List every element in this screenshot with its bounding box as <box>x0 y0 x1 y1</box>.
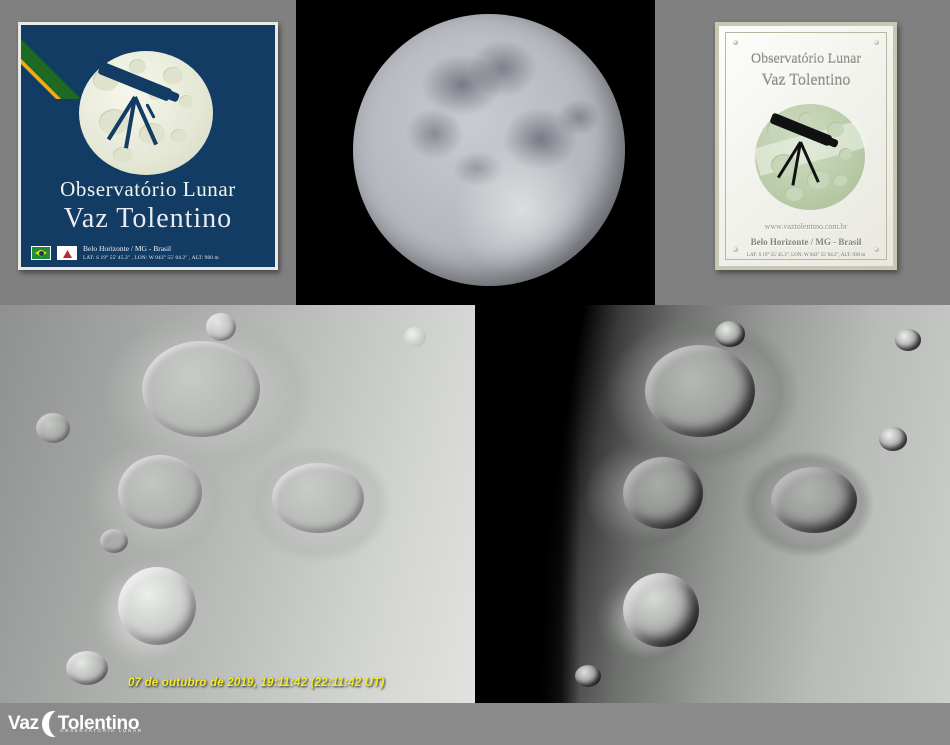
plaque-website: www.vaztolentino.com.br <box>719 222 893 231</box>
screw-icon <box>733 247 738 252</box>
plaque-title: Observatório Lunar <box>21 177 275 202</box>
watermark-first-word: Vaz <box>8 713 39 735</box>
watermark-second-word: Tolentino <box>58 713 139 735</box>
plaque-subtitle: Vaz Tolentino <box>21 203 275 235</box>
footer-bar: Vaz Tolentino OBSERVATÓRIO LUNAR <box>0 703 950 745</box>
top-row: Observatório Lunar Vaz Tolentino Belo Ho… <box>0 0 950 305</box>
screw-icon <box>874 40 879 45</box>
moon-with-telescope-icon <box>79 51 213 175</box>
composite-image: Observatório Lunar Vaz Tolentino Belo Ho… <box>0 0 950 745</box>
watermark-logo: Vaz Tolentino <box>8 709 139 739</box>
left-logo-panel: Observatório Lunar Vaz Tolentino Belo Ho… <box>0 0 296 305</box>
plaque-location-text: Belo Horizonte / MG - Brasil <box>719 237 893 247</box>
plaque-coordinates: LAT: S 19° 55' 45.3" , LON: W 043° 55' 0… <box>83 255 219 263</box>
full-moon-panel <box>296 0 655 305</box>
plaque-footer: Belo Horizonte / MG - Brasil LAT: S 19° … <box>31 239 271 267</box>
full-moon-photograph <box>353 14 625 286</box>
telescope-icon <box>79 51 213 175</box>
observatory-logo-plaque: Observatório Lunar Vaz Tolentino Belo Ho… <box>18 22 278 270</box>
lunar-detail-right: 06 de outubro de 2019, 19:51:36 (22:51:3… <box>475 305 950 703</box>
plaque-location-text: Belo Horizonte / MG - Brasil <box>83 244 219 255</box>
moon-with-telescope-icon <box>755 104 865 210</box>
right-logo-panel: Observatório Lunar Vaz Tolentino <box>655 0 950 305</box>
lunar-surface-image <box>0 305 475 703</box>
minas-gerais-flag-icon <box>57 246 77 260</box>
plaque-coordinates: LAT: S 19° 55' 45.3", LON: W 043° 55' 04… <box>719 253 893 258</box>
brazil-flag-icon <box>31 246 51 260</box>
lunar-detail-left: 07 de outubro de 2019, 19:11:42 (22:11:4… <box>0 305 475 703</box>
screw-icon <box>874 247 879 252</box>
detail-images-row: 07 de outubro de 2019, 19:11:42 (22:11:4… <box>0 305 950 703</box>
observatory-metal-plaque: Observatório Lunar Vaz Tolentino <box>715 22 897 270</box>
plaque-subtitle: Vaz Tolentino <box>719 72 893 90</box>
plaque-location-block: Belo Horizonte / MG - Brasil LAT: S 19° … <box>83 244 219 263</box>
lunar-surface-image <box>475 305 950 703</box>
telescope-icon <box>755 104 865 210</box>
screw-icon <box>733 40 738 45</box>
detail-caption: 07 de outubro de 2019, 19:11:42 (22:11:4… <box>128 677 385 689</box>
terminator-shadow <box>475 305 580 703</box>
plaque-title: Observatório Lunar <box>719 52 893 68</box>
